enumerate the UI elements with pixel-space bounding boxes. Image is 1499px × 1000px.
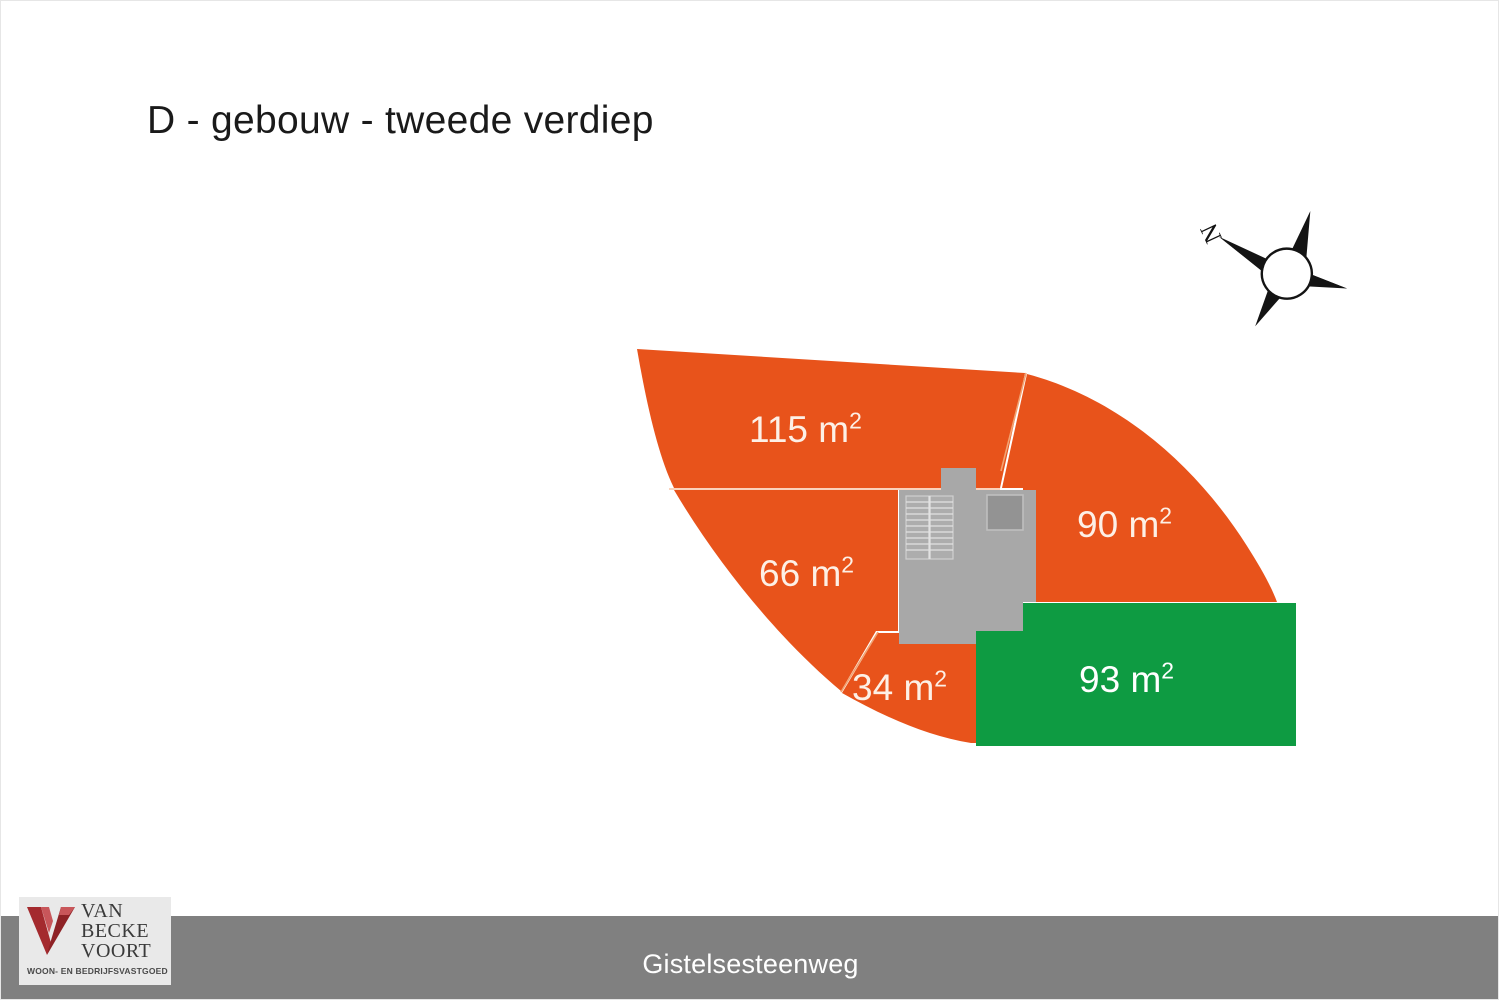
compass-star-icon: [1202, 202, 1357, 337]
logo-wordmark: VAN BECKE VOORT: [81, 901, 169, 961]
staircase: [906, 496, 953, 559]
elevator-shaft[interactable]: [987, 495, 1023, 530]
compass-rose: N: [1197, 202, 1357, 337]
compass-hub: [1257, 244, 1316, 303]
logo-line-1: VAN: [81, 901, 169, 921]
logo-line-3: VOORT: [81, 941, 169, 961]
footer-street-label: Gistelsesteenweg: [1, 949, 1499, 980]
unit-115-shape[interactable]: [637, 349, 1025, 488]
logo-v-mark: [25, 903, 77, 961]
building-core-group: [899, 468, 1036, 644]
floor-plan-slide: D - gebouw - tweede verdiep: [0, 0, 1499, 1000]
company-logo[interactable]: VAN BECKE VOORT WOON- EN BEDRIJFSVASTGOE…: [19, 897, 171, 985]
unit-93-shape[interactable]: [976, 603, 1296, 746]
green-parcel-group: [976, 603, 1296, 746]
floor-plan-drawing: [1, 1, 1499, 1000]
logo-line-2: BECKE: [81, 921, 169, 941]
unit-90-shape[interactable]: [1002, 374, 1277, 602]
logo-tagline: WOON- EN BEDRIJFSVASTGOED: [27, 966, 168, 976]
